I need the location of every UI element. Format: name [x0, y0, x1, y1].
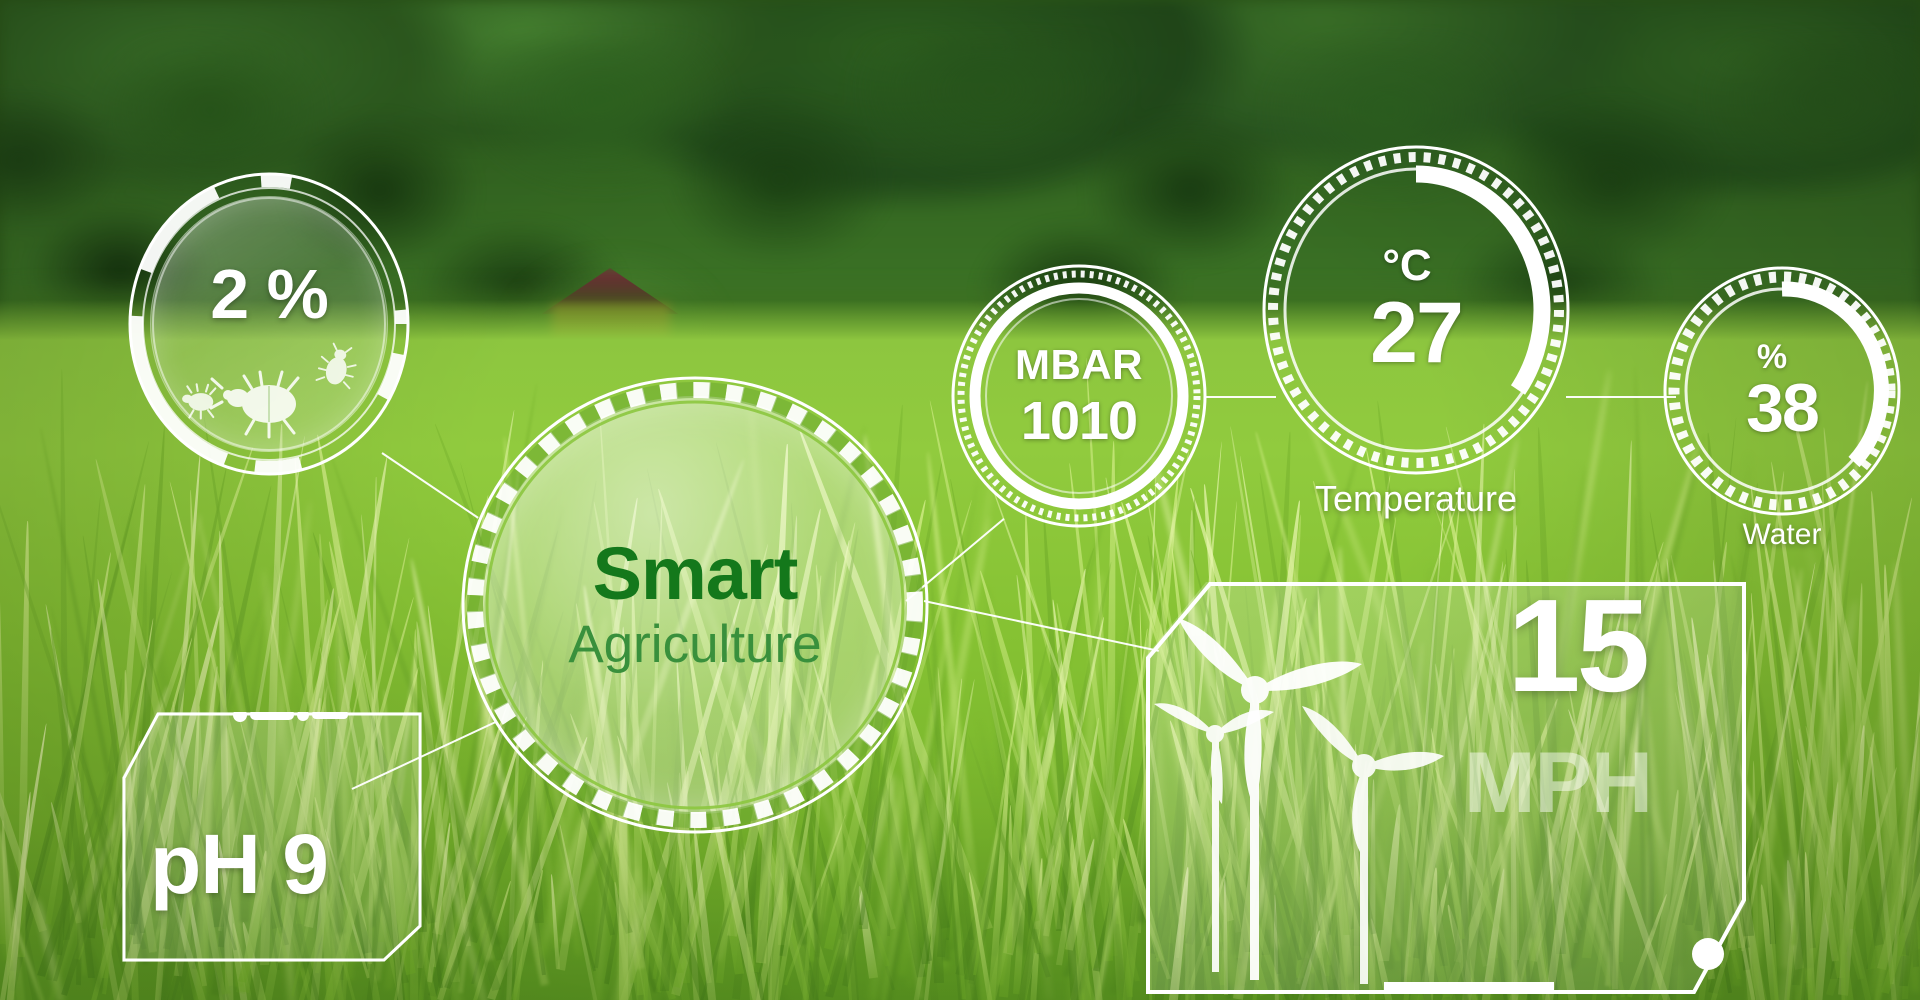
temperature-caption: Temperature: [1256, 478, 1576, 520]
pressure-gauge-widget[interactable]: MBAR 1010: [948, 262, 1210, 530]
pest-value: 2 %: [124, 254, 414, 334]
main-title-primary: Smart: [593, 539, 798, 609]
water-unit: %: [1757, 340, 1787, 374]
main-title-group: Smart Agriculture: [455, 370, 935, 840]
water-caption: Water: [1658, 518, 1906, 552]
temperature-gauge-widget[interactable]: °C 27 Temperature: [1256, 140, 1576, 480]
water-readout: % 38: [1658, 262, 1906, 520]
smart-agriculture-badge[interactable]: Smart Agriculture: [455, 370, 935, 840]
ph-meter-icon: [233, 712, 348, 722]
insect-icon: [174, 348, 364, 438]
temperature-unit: °C: [1382, 244, 1431, 288]
water-value: 38: [1746, 374, 1818, 442]
pressure-value: 1010: [1021, 394, 1137, 448]
hud-overlay: 2 %: [0, 0, 1920, 1000]
wind-unit: MPH: [1464, 734, 1652, 833]
wind-panel-widget[interactable]: 15 MPH: [1146, 582, 1746, 994]
main-title-secondary: Agriculture: [568, 618, 821, 671]
wind-turbine-icon: [1138, 608, 1468, 988]
temperature-value: 27: [1370, 290, 1462, 376]
temperature-readout: °C 27: [1256, 140, 1576, 480]
wind-value: 15: [1507, 570, 1646, 721]
pest-gauge-widget[interactable]: 2 %: [124, 168, 414, 480]
ph-value: pH 9: [150, 816, 328, 913]
pressure-unit-label: MBAR: [1015, 344, 1143, 386]
ph-panel-widget[interactable]: pH 9: [122, 712, 422, 962]
pressure-readout: MBAR 1010: [948, 262, 1210, 530]
water-gauge-widget[interactable]: % 38 Water: [1658, 262, 1906, 520]
connector-main-to-wind: [924, 600, 1159, 652]
